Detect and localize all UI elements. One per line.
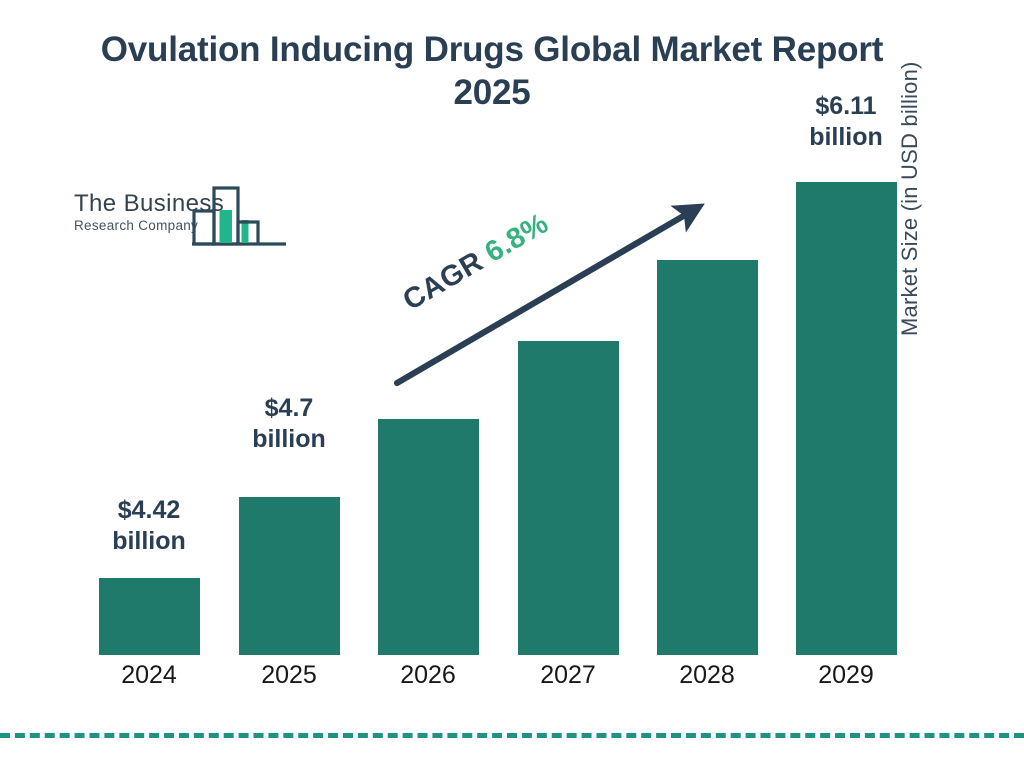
bar-value-unit-2029: billion [786,122,906,153]
bar-value-amount-2024: $4.42 [89,495,209,526]
bar-value-label-2025: $4.7 billion [229,393,349,456]
bar-2024[interactable] [99,578,200,655]
footer-divider [0,733,1024,738]
bar-value-label-2024: $4.42 billion [89,495,209,558]
x-tick-2026: 2026 [363,661,493,690]
bar-2029[interactable] [796,182,897,655]
x-tick-2027: 2027 [503,661,633,690]
x-tick-2025: 2025 [224,661,354,690]
x-tick-2024: 2024 [84,661,214,690]
bar-2025[interactable] [239,497,340,655]
bar-value-label-2029: $6.11 billion [786,91,906,154]
bar-2027[interactable] [518,341,619,655]
bar-value-unit-2025: billion [229,424,349,455]
chart-canvas: Ovulation Inducing Drugs Global Market R… [0,0,1024,768]
bar-2026[interactable] [378,419,479,655]
bar-value-amount-2025: $4.7 [229,393,349,424]
x-tick-2028: 2028 [642,661,772,690]
y-axis-title: Market Size (in USD billion) [897,16,923,336]
bar-value-unit-2024: billion [89,526,209,557]
bar-value-amount-2029: $6.11 [786,91,906,122]
x-tick-2029: 2029 [781,661,911,690]
plot-area: $4.42 billion $4.7 billion $6.11 billion… [0,0,1024,768]
bar-2028[interactable] [657,260,758,655]
